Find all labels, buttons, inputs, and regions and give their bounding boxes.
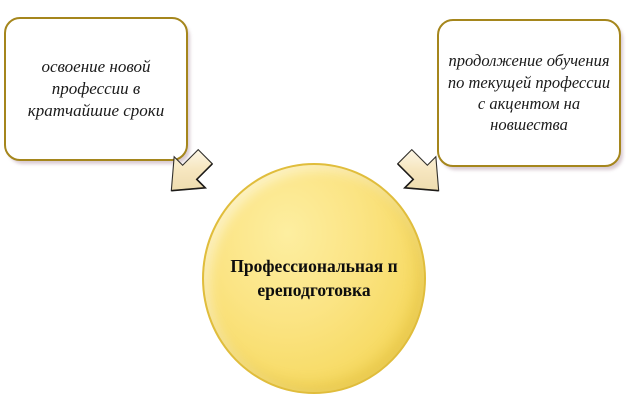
callout-box-right[interactable]: продолжение обучения по текущей професси…	[437, 19, 621, 167]
arrow-down-left-icon	[390, 142, 452, 204]
center-ellipse[interactable]: Профессиональная переподготовка	[202, 163, 426, 394]
arrow-down-right-icon	[158, 142, 220, 204]
callout-box-left-text: освоение новой профессии в кратчайшие ср…	[6, 56, 186, 122]
center-ellipse-text: Профессиональная переподготовка	[229, 255, 399, 301]
callout-box-right-text: продолжение обучения по текущей професси…	[439, 50, 619, 136]
callout-box-left[interactable]: освоение новой профессии в кратчайшие ср…	[4, 17, 188, 161]
diagram-canvas: освоение новой профессии в кратчайшие ср…	[0, 0, 626, 407]
